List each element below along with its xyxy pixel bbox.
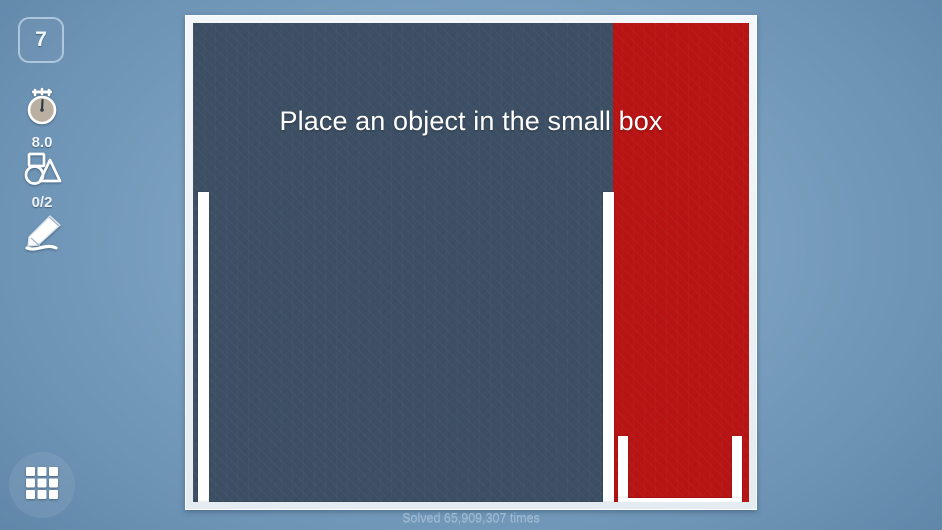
draw-tool-button[interactable]	[0, 212, 84, 259]
game-board[interactable]: Place an object in the small box	[193, 23, 749, 502]
menu-button[interactable]	[9, 452, 75, 518]
level-badge[interactable]: 7	[18, 17, 64, 63]
shapes-icon	[0, 150, 84, 193]
stopwatch-icon	[0, 86, 84, 133]
goal-zone	[613, 23, 749, 502]
grid-menu-icon	[25, 466, 59, 505]
pencil-icon	[19, 241, 65, 258]
objects-stat: 0/2	[0, 150, 84, 211]
left-toolbar: 7 8.0	[0, 0, 84, 530]
game-board-frame: Place an object in the small box	[185, 15, 757, 510]
big-box-right-wall	[603, 192, 614, 502]
small-box-right-wall	[732, 436, 742, 502]
timer-stat: 8.0	[0, 86, 84, 151]
small-box-left-wall	[618, 436, 628, 502]
solved-count-text: Solved 65,909,307 times	[0, 511, 942, 525]
game-screen: 7 8.0	[0, 0, 942, 530]
objects-value: 0/2	[0, 194, 84, 211]
timer-value: 8.0	[0, 134, 84, 151]
big-box-left-wall	[198, 192, 209, 502]
right-toolbar: Best Results 1.7	[845, 0, 942, 530]
small-box-floor	[618, 498, 742, 502]
